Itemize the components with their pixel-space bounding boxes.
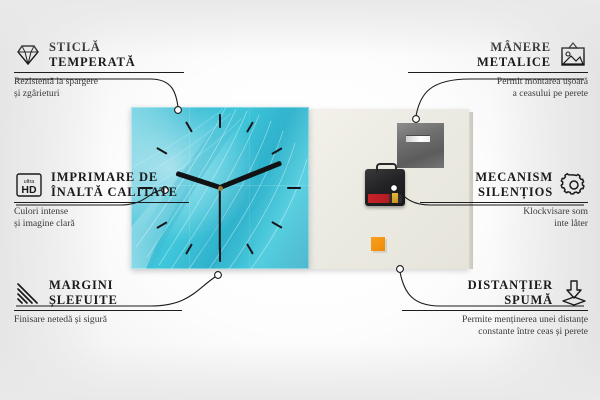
callout-title: MECANISM SILENȚIOS — [475, 170, 553, 199]
foam-spacer-icon — [560, 279, 588, 307]
metal-hanger-plate — [397, 123, 444, 168]
battery-terminal — [392, 193, 398, 203]
hanger-slot — [406, 135, 430, 142]
tick-mark — [287, 187, 301, 189]
divider — [402, 310, 588, 311]
callout-title: DISTANȚIER SPUMĂ — [468, 278, 553, 307]
callout-head: STICLĂ TEMPERATĂ — [14, 40, 184, 69]
callout-title: MARGINI ȘLEFUITE — [49, 278, 118, 307]
callout-head: ultra HD IMPRIMARE DE ÎNALTĂ CALITATE — [14, 170, 189, 199]
tick-mark — [219, 114, 221, 128]
picture-hanger-icon — [558, 42, 588, 68]
callout-print-quality: ultra HD IMPRIMARE DE ÎNALTĂ CALITATE Cu… — [14, 170, 189, 229]
callout-head: MECANISM SILENȚIOS — [420, 170, 588, 199]
callout-polished-edges: MARGINI ȘLEFUITE Finisare netedă și sigu… — [14, 278, 182, 326]
clock-movement — [365, 169, 405, 206]
callout-title: IMPRIMARE DE ÎNALTĂ CALITATE — [51, 170, 178, 199]
callout-head: MÂNERE METALICE — [408, 40, 588, 69]
divider — [14, 310, 182, 311]
svg-text:HD: HD — [21, 184, 37, 196]
divider — [420, 202, 588, 203]
movement-bail — [376, 163, 397, 173]
divider — [408, 72, 588, 73]
infographic-canvas: STICLĂ TEMPERATĂ Rezistentă la spargere … — [0, 0, 600, 400]
foam-spacer-pad — [371, 237, 385, 251]
divider — [14, 202, 189, 203]
callout-silent-mechanism: MECANISM SILENȚIOS Klockvisare som inte … — [420, 170, 588, 229]
ultra-hd-icon: ultra HD — [14, 172, 44, 198]
callout-head: DISTANȚIER SPUMĂ — [402, 278, 588, 307]
polished-edge-icon — [14, 281, 42, 305]
callout-head: MARGINI ȘLEFUITE — [14, 278, 182, 307]
callout-tempered-glass: STICLĂ TEMPERATĂ Rezistentă la spargere … — [14, 40, 184, 99]
divider — [14, 72, 184, 73]
diamond-icon — [14, 43, 42, 67]
gear-icon — [560, 172, 588, 198]
battery — [368, 194, 402, 203]
callout-title: STICLĂ TEMPERATĂ — [49, 40, 136, 69]
callout-foam-spacer: DISTANȚIER SPUMĂ Permite menținerea unei… — [402, 278, 588, 337]
callout-metal-handles: MÂNERE METALICE Permit montarea ușoară a… — [408, 40, 588, 99]
callout-title: MÂNERE METALICE — [477, 40, 551, 69]
hand-hub — [218, 186, 223, 191]
second-hand — [219, 187, 221, 251]
